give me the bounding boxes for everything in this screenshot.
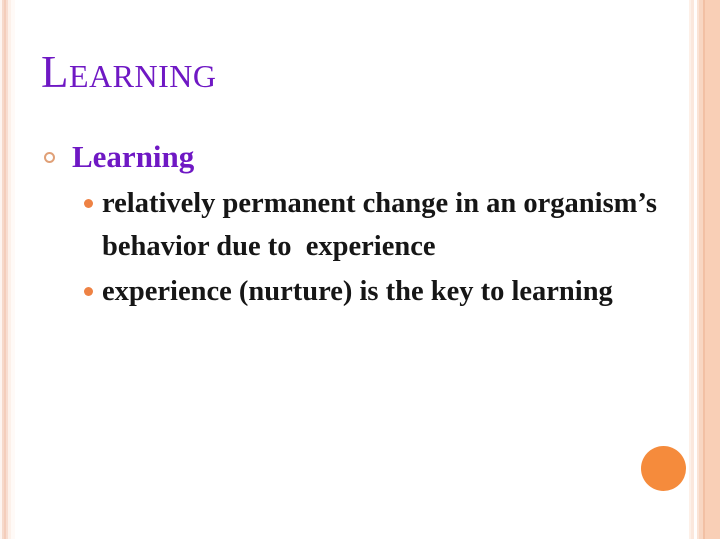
- filled-dot-bullet-icon: [84, 199, 93, 208]
- bullet-item-level2: relatively permanent change in an organi…: [40, 182, 680, 268]
- left-border-stripe-2: [2, 0, 4, 539]
- right-border-stripe-4: [697, 0, 699, 539]
- bullet-item-level2: experience (nurture) is the key to learn…: [40, 270, 680, 313]
- right-border-stripe-5: [699, 0, 703, 539]
- left-border-stripe-3: [4, 0, 6, 539]
- left-border-stripe-6: [11, 0, 15, 539]
- bullet-level2-label: experience (nurture) is the key to learn…: [102, 276, 613, 307]
- bullet-level1-label: Learning: [72, 139, 194, 174]
- right-border-stripe-2: [691, 0, 694, 539]
- hollow-ring-bullet-icon: [44, 152, 55, 163]
- right-border-stripe-1: [689, 0, 691, 539]
- filled-dot-bullet-icon: [84, 287, 93, 296]
- slide-body: Learning relatively permanent change in …: [40, 136, 680, 313]
- right-border-band: [705, 0, 720, 539]
- bullet-item-level1: Learning: [40, 136, 680, 178]
- bullet-level2-label: relatively permanent change in an organi…: [102, 188, 664, 262]
- left-border-stripe-5: [8, 0, 11, 539]
- left-border-stripe-4: [6, 0, 8, 539]
- right-border-stripe-3: [694, 0, 697, 539]
- right-border-stripe-6: [703, 0, 705, 539]
- left-border-stripe-1: [0, 0, 2, 539]
- decorative-orange-circle: [641, 446, 686, 491]
- slide-title: Learning: [41, 44, 216, 100]
- slide-canvas: Learning Learning relatively permanent c…: [0, 0, 720, 539]
